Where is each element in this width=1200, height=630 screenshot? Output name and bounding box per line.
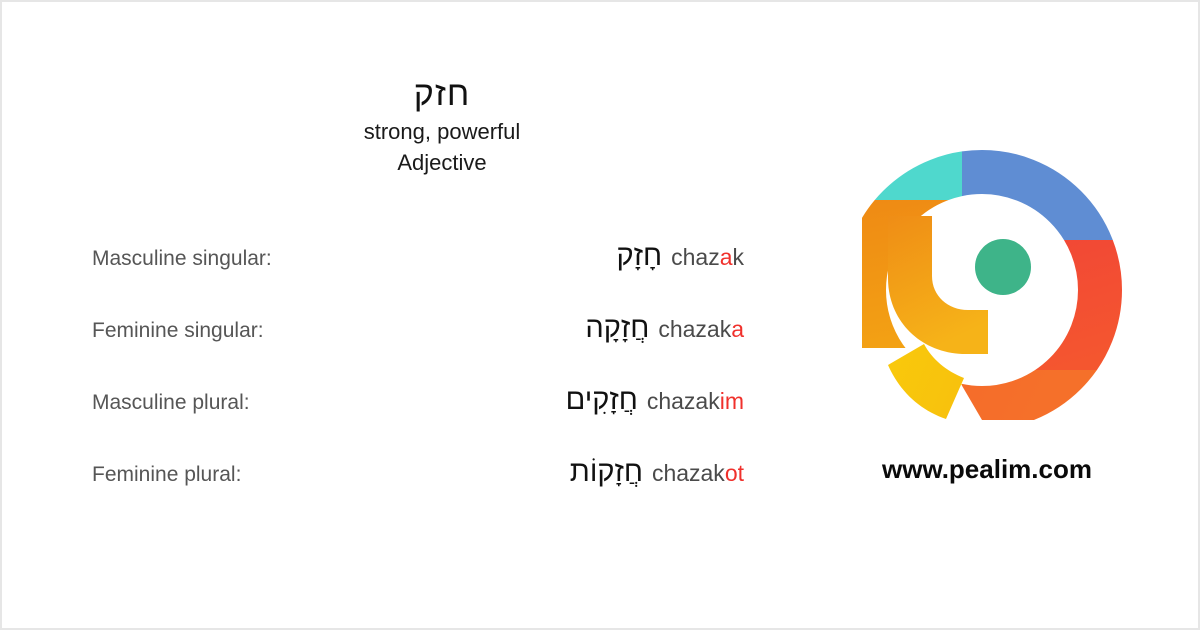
table-row: Masculine plural: חֲזָקִיםchazakim	[2, 384, 762, 456]
form-label-masculine-plural: Masculine plural:	[2, 391, 262, 415]
table-row: Masculine singular: חָזָקchazak	[2, 240, 762, 312]
translit-base: chazak	[652, 460, 725, 486]
translit-tail: k	[733, 244, 745, 270]
hebrew-form: חֲזָקִים	[566, 384, 638, 417]
form-value-feminine-plural: חֲזָקוֹתchazakot	[262, 456, 762, 489]
part-of-speech: Adjective	[2, 147, 882, 178]
hebrew-form: חֲזָקָה	[585, 312, 649, 345]
table-row: Feminine plural: חֲזָקוֹתchazakot	[2, 456, 762, 528]
translit-highlight: im	[720, 388, 744, 414]
transliteration: chazakot	[652, 460, 744, 487]
translit-highlight: a	[731, 316, 744, 342]
transliteration: chazakim	[647, 388, 744, 415]
site-url: www.pealim.com	[822, 454, 1152, 485]
translit-highlight: a	[720, 244, 733, 270]
translit-base: chaz	[671, 244, 720, 270]
inflection-table: Masculine singular: חָזָקchazak Feminine…	[2, 240, 762, 528]
page-title-hebrew: חזק	[2, 74, 882, 114]
hebrew-form: חָזָק	[617, 240, 663, 273]
logo-green-dot	[975, 239, 1031, 295]
form-label-feminine-plural: Feminine plural:	[2, 463, 262, 487]
form-value-feminine-singular: חֲזָקָהchazaka	[262, 312, 762, 345]
hebrew-form: חֲזָקוֹת	[570, 456, 643, 489]
form-value-masculine-singular: חָזָקchazak	[262, 240, 762, 273]
translit-base: chazak	[647, 388, 720, 414]
translit-highlight: ot	[725, 460, 744, 486]
translit-base: chazak	[658, 316, 731, 342]
form-label-masculine-singular: Masculine singular:	[2, 247, 262, 271]
word-meaning: strong, powerful	[2, 116, 882, 147]
pealim-logo-icon	[862, 120, 1132, 420]
form-value-masculine-plural: חֲזָקִיםchazakim	[262, 384, 762, 417]
card-header: חזק strong, powerful Adjective	[2, 74, 882, 178]
form-label-feminine-singular: Feminine singular:	[2, 319, 262, 343]
transliteration: chazak	[671, 244, 744, 271]
pealim-word-card: חזק strong, powerful Adjective Masculine…	[0, 0, 1200, 630]
table-row: Feminine singular: חֲזָקָהchazaka	[2, 312, 762, 384]
transliteration: chazaka	[658, 316, 744, 343]
